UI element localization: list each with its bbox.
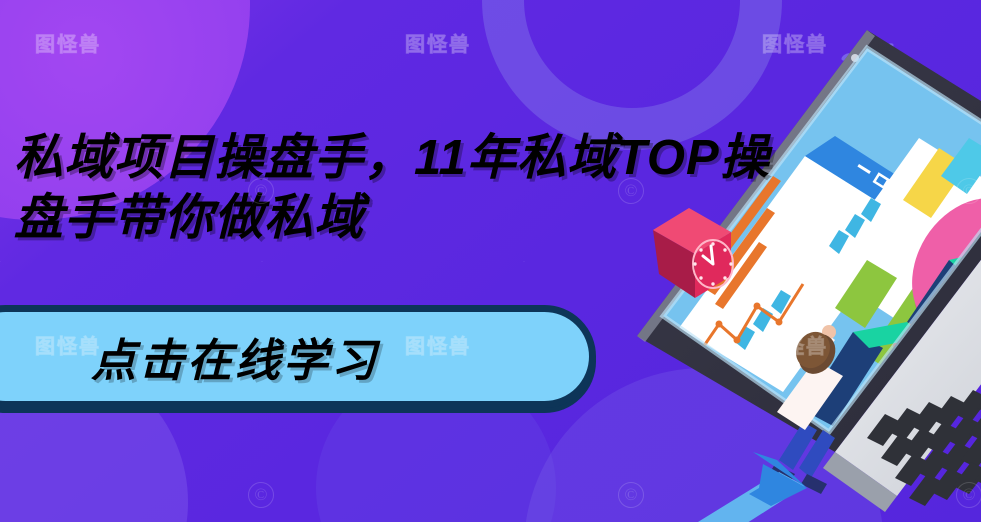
enroll-cta-button[interactable]: 点击在线学习 <box>0 305 596 408</box>
page-title: 私域项目操盘手，11年私域TOP操盘手带你做私域 <box>14 128 774 248</box>
promo-banner: 私域项目操盘手，11年私域TOP操盘手带你做私域 点击在线学习 图怪兽图怪兽图怪… <box>0 0 981 522</box>
person-shoes-2 <box>801 474 827 494</box>
enroll-cta-label: 点击在线学习 <box>91 324 379 389</box>
